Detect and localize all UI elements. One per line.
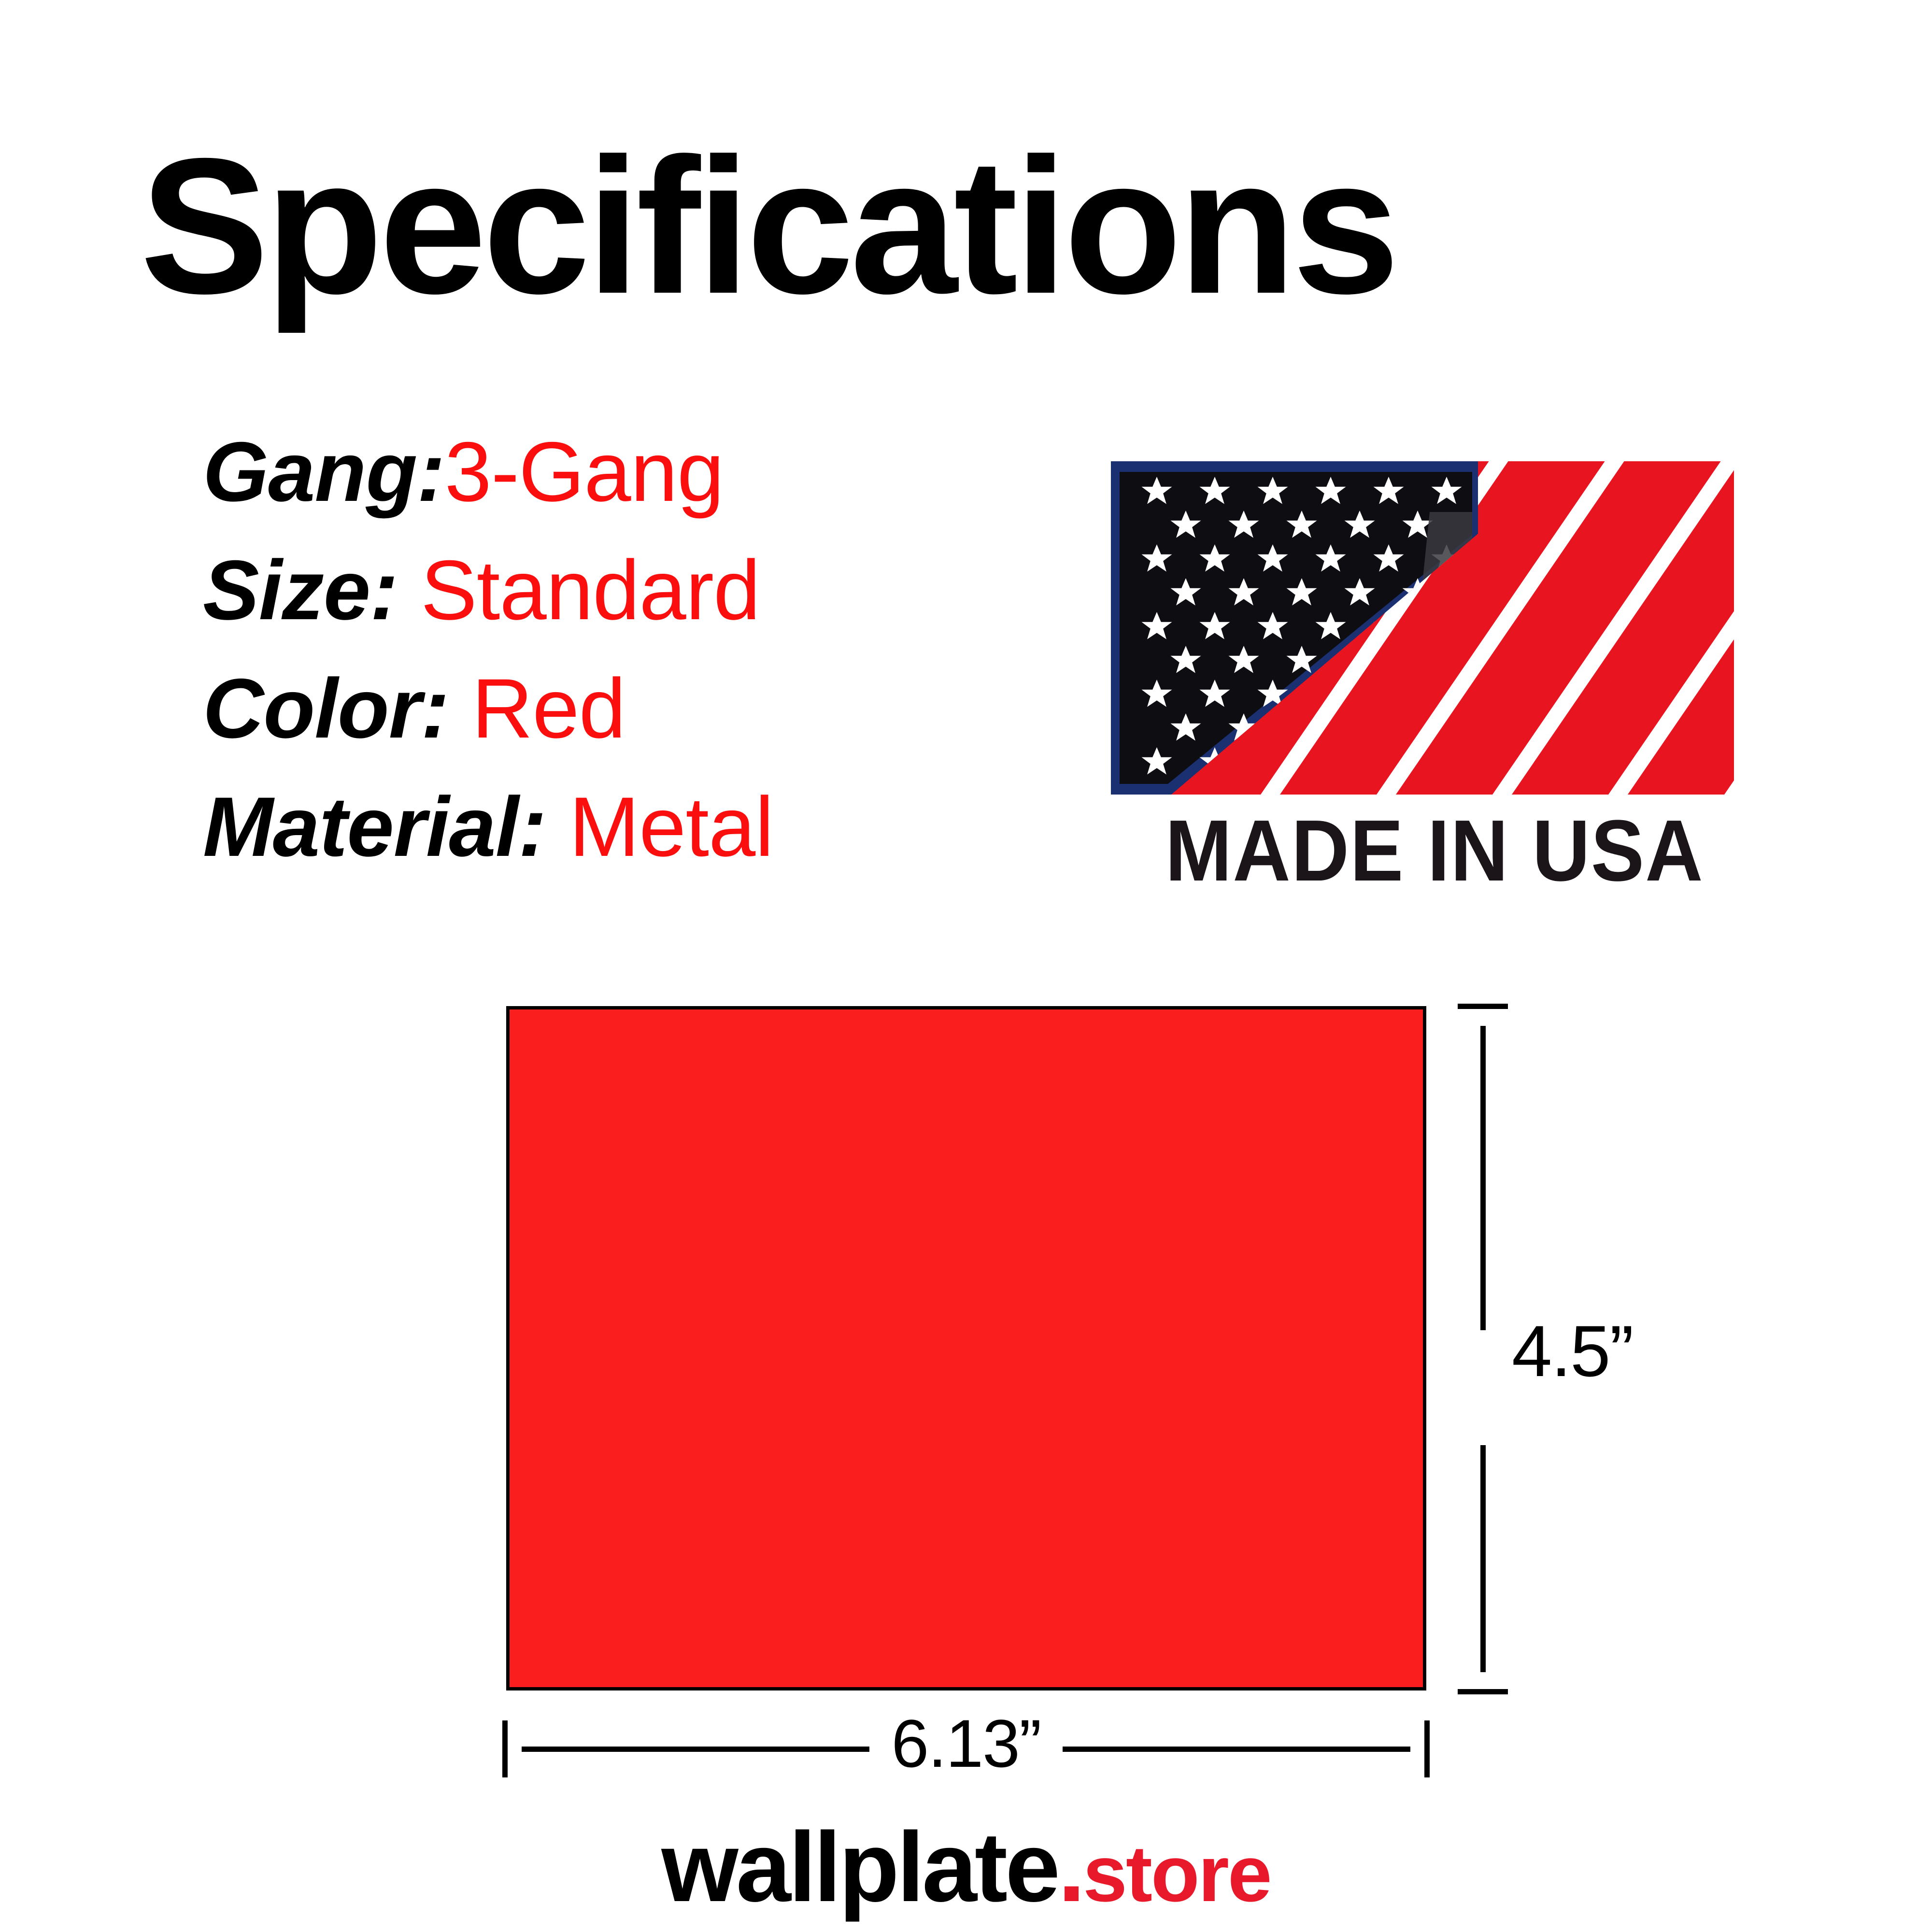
dimension-height-cap-top bbox=[1458, 1004, 1508, 1009]
brand-logo-main: wallplate bbox=[661, 1812, 1058, 1922]
brand-logo-suffix: store bbox=[1083, 1829, 1270, 1918]
spec-row-color: Color: Red bbox=[203, 650, 1024, 768]
dimension-height-cap-bottom bbox=[1458, 1689, 1508, 1694]
usa-flag-svg bbox=[1111, 461, 1734, 795]
spec-label-color: Color: bbox=[203, 662, 449, 756]
made-in-usa-caption: MADE IN USA bbox=[1128, 808, 1741, 895]
spec-sheet-page: Specifications Gang:3-Gang Size: Standar… bbox=[0, 0, 1932, 1932]
spec-separator-color bbox=[449, 662, 472, 756]
spec-label-gang: Gang: bbox=[203, 425, 445, 519]
spec-row-size: Size: Standard bbox=[203, 531, 1024, 650]
spec-separator-size bbox=[398, 543, 421, 638]
spec-value-gang: 3-Gang bbox=[445, 425, 724, 519]
dimension-height-label: 4.5” bbox=[1512, 1315, 1633, 1387]
usa-flag-icon bbox=[1111, 461, 1734, 795]
specifications-list: Gang:3-Gang Size: Standard Color: Red Ma… bbox=[203, 413, 1024, 886]
dimension-height-line-upper bbox=[1480, 1026, 1486, 1330]
dimension-height-line-lower bbox=[1480, 1445, 1486, 1672]
spec-label-size: Size: bbox=[203, 543, 398, 638]
dimension-width-label: 6.13” bbox=[502, 1710, 1430, 1777]
brand-logo: wallplate.store bbox=[483, 1810, 1449, 1924]
page-title: Specifications bbox=[140, 125, 1782, 327]
dimension-height bbox=[1454, 1004, 1512, 1694]
spec-separator-material bbox=[546, 780, 569, 874]
spec-value-material: Metal bbox=[569, 780, 773, 874]
product-swatch bbox=[506, 1006, 1426, 1690]
spec-value-size: Standard bbox=[421, 543, 760, 638]
brand-logo-dot: . bbox=[1058, 1812, 1083, 1922]
spec-label-material: Material: bbox=[203, 780, 546, 874]
spec-value-color: Red bbox=[472, 662, 625, 756]
spec-row-material: Material: Metal bbox=[203, 768, 1024, 886]
spec-row-gang: Gang:3-Gang bbox=[203, 413, 1024, 531]
